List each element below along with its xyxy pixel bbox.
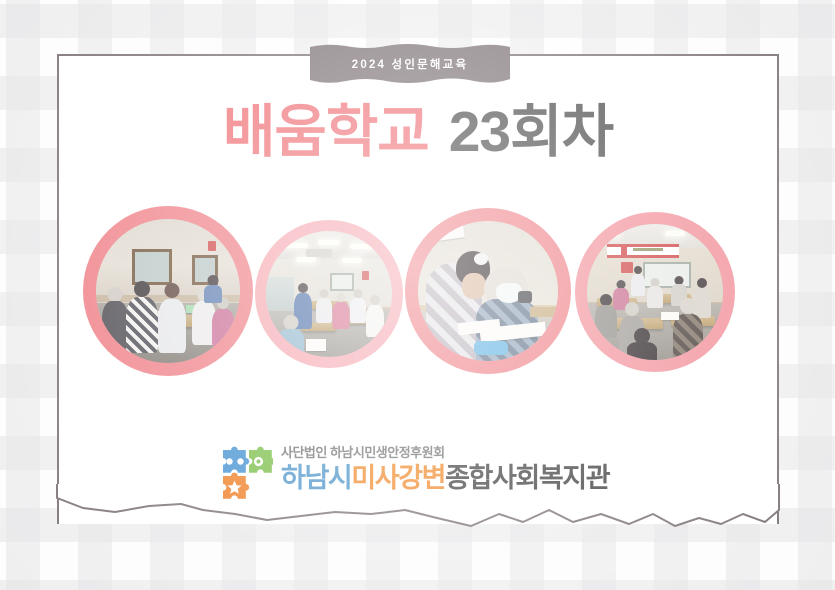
photo-teacher-helping-student — [405, 208, 571, 374]
page-title: 배움학교23회차 — [57, 104, 779, 161]
headline-session: 23회차 — [449, 100, 613, 164]
logo-name-part-misagangbyeon: 미사강변 — [351, 463, 445, 493]
organization-logo: 사단법인 하남시민생안정후원회 하남시미사강변종합사회복지관 — [221, 444, 609, 500]
logo-org-affiliation: 사단법인 하남시민생안정후원회 — [281, 446, 609, 460]
photo-classroom-tables — [83, 206, 253, 376]
photo-gallery — [57, 198, 779, 398]
puzzle-logo-icon — [221, 446, 273, 500]
logo-name-part-welfare-center: 종합사회복지관 — [445, 463, 609, 493]
logo-org-name: 하남시미사강변종합사회복지관 — [281, 463, 609, 493]
poster-canvas: 2024 성인문해교육 배움학교23회차 — [0, 0, 835, 590]
ribbon-label: 2024 성인문해교육 — [310, 43, 510, 85]
headline-main: 배움학교 — [223, 100, 429, 164]
ribbon-banner: 2024 성인문해교육 — [310, 43, 510, 85]
logo-name-part-hanam: 하남시 — [281, 463, 351, 493]
photo-classroom-back-view — [575, 212, 735, 372]
photo-classroom-wide — [255, 220, 403, 368]
logo-text-block: 사단법인 하남시민생안정후원회 하남시미사강변종합사회복지관 — [281, 444, 609, 494]
